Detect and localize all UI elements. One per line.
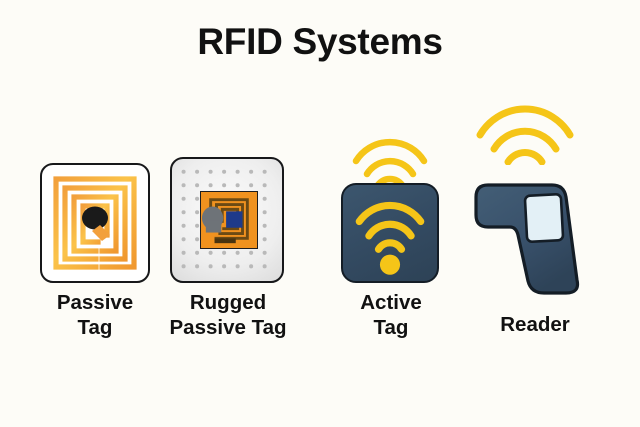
reader-label: Reader: [470, 312, 600, 337]
rfid-handheld-reader-icon: [470, 103, 600, 303]
antenna-coil-icon: [40, 163, 150, 283]
tag-chip: [82, 207, 110, 242]
signal-arcs-icon: [336, 133, 444, 185]
scanner-gun-shape: [470, 163, 600, 303]
rugged-tag-chip-module: [200, 191, 258, 249]
rfid-active-tag-icon: [336, 133, 444, 283]
active-tag-label: Active Tag: [325, 290, 457, 340]
inner-antenna-coil-icon: [201, 192, 257, 248]
rfid-rugged-passive-tag-icon: [170, 157, 284, 283]
rfid-systems-infographic: RFID Systems: [0, 0, 640, 427]
active-tag-body: [341, 183, 439, 283]
rfid-passive-tag-icon: [40, 163, 150, 283]
signal-arcs-icon: [470, 103, 600, 165]
rugged-tag-housing: [170, 157, 284, 283]
rugged-passive-tag-label: Rugged Passive Tag: [155, 290, 301, 340]
page-title: RFID Systems: [0, 22, 640, 63]
wifi-icon: [343, 185, 437, 281]
reader-device-body: [470, 163, 600, 303]
passive-tag-label: Passive Tag: [25, 290, 165, 340]
